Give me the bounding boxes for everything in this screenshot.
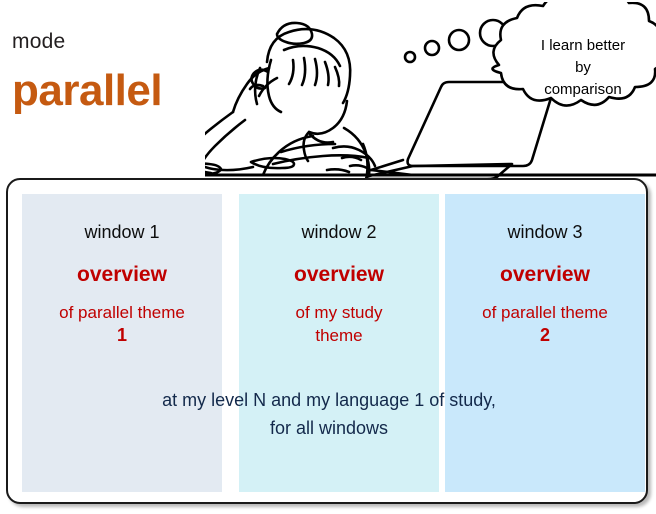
- window-column-3[interactable]: window 3 overview of parallel theme 2: [445, 194, 645, 492]
- window-3-subtitle: of parallel theme 2: [445, 301, 645, 347]
- window-2-subtitle: of my study theme: [239, 301, 439, 347]
- thought-line-1: I learn better: [541, 37, 625, 54]
- windows-panel: window 1 overview of parallel theme 1 wi…: [6, 178, 648, 504]
- window-2-sub-line-2: theme: [315, 326, 362, 345]
- window-3-overview: overview: [445, 263, 645, 287]
- window-column-2[interactable]: window 2 overview of my study theme: [239, 194, 439, 492]
- mode-label: mode: [12, 30, 65, 54]
- window-1-subtitle: of parallel theme 1: [22, 301, 222, 347]
- window-3-sub-line-2: 2: [540, 325, 550, 345]
- thought-dot-1: [405, 52, 415, 62]
- thought-line-2: by: [575, 59, 591, 76]
- thought-line-3: comparison: [544, 81, 622, 98]
- window-1-sub-line-1: of parallel theme: [59, 303, 185, 322]
- window-2-sub-line-1: of my study: [296, 303, 383, 322]
- window-column-1[interactable]: window 1 overview of parallel theme 1: [22, 194, 222, 492]
- illustration-svg: I learn better by comparison: [205, 2, 656, 178]
- person-at-laptop-thinking-illustration: I learn better by comparison: [205, 2, 656, 178]
- window-2-title: window 2: [239, 221, 439, 243]
- window-1-overview: overview: [22, 263, 222, 287]
- window-3-sub-line-1: of parallel theme: [482, 303, 608, 322]
- window-3-title: window 3: [445, 221, 645, 243]
- window-2-overview: overview: [239, 263, 439, 287]
- window-1-sub-line-2: 1: [117, 325, 127, 345]
- thought-dot-3: [449, 30, 469, 50]
- mode-value: parallel: [12, 66, 162, 116]
- window-1-title: window 1: [22, 221, 222, 243]
- thought-dot-2: [425, 41, 439, 55]
